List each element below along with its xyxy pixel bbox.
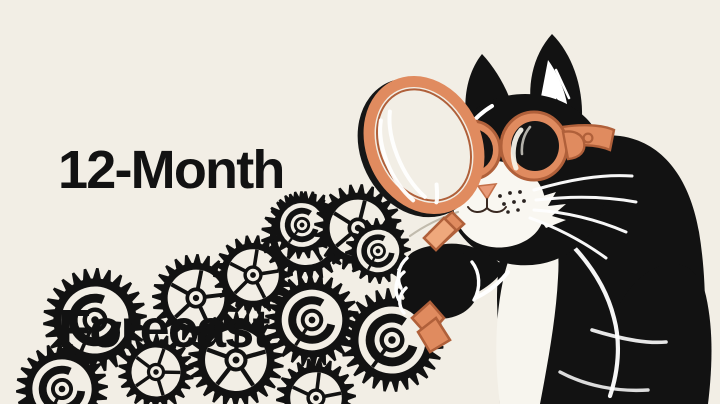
goggles-lens-right [501, 112, 567, 180]
goggles-side-barrel [563, 131, 584, 159]
poster-canvas: 12-Month Forecast Guide [0, 0, 720, 404]
illustration-artboard [0, 0, 720, 404]
cat-paw-fist [400, 246, 479, 319]
